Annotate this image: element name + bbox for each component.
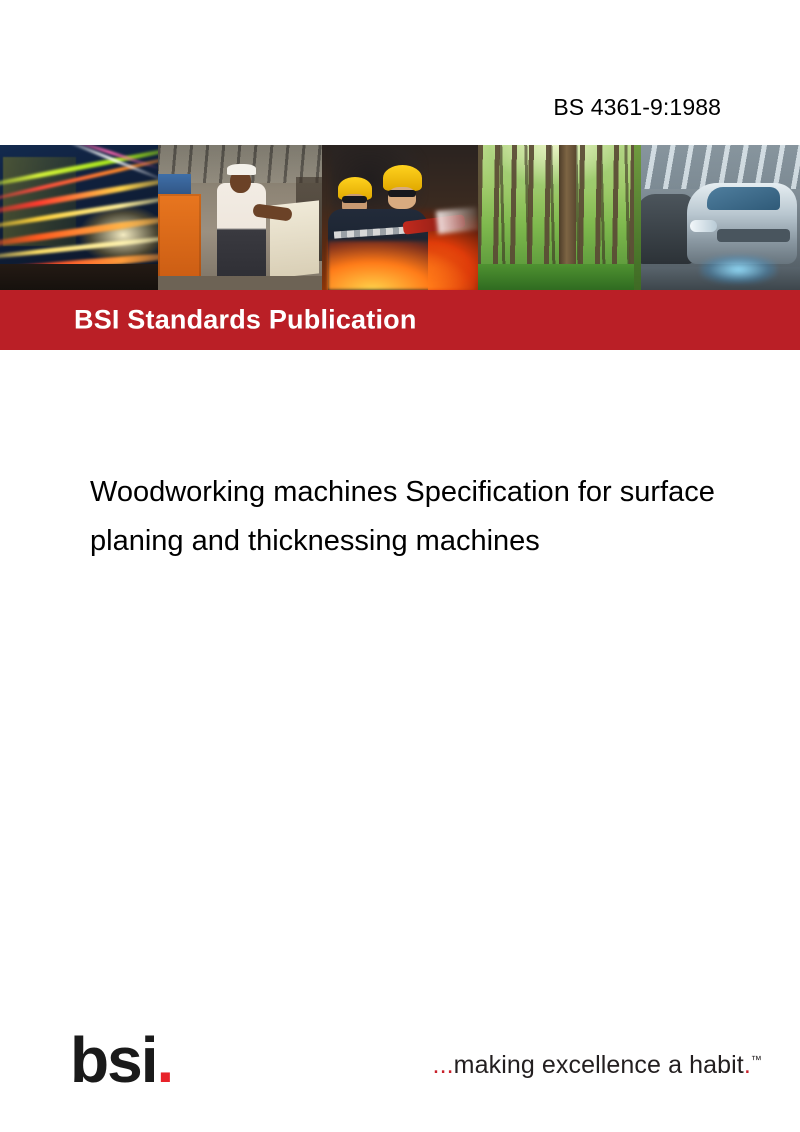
light-trails-road [0,264,158,290]
bsi-logo-dot: . [156,1024,172,1096]
factory-left-edge [634,145,641,290]
inspection-light-glow [700,255,776,284]
publisher-banner-text: BSI Standards Publication [74,305,417,336]
tagline-dot: . [744,1051,751,1079]
water-spray [436,207,478,234]
warehouse-worker-photo [158,145,322,290]
light-trails-photo [0,145,158,290]
car-grille [717,229,790,242]
firefighters-photo [322,145,478,290]
firefighter-visor [388,190,416,197]
worker-body [217,183,266,290]
page-title: Woodworking machines Specification for s… [90,468,800,566]
car-assembly-photo [634,145,800,290]
forest-undergrowth [478,264,634,290]
document-cover-page: BS 4361-9:1988 [0,0,800,1132]
flames [328,241,475,290]
forest-photo [478,145,634,290]
banner-image-strip [0,145,800,290]
bsi-logo-text: bsi [70,1024,156,1096]
car-windshield [707,187,780,210]
publisher-banner: BSI Standards Publication [0,290,800,350]
standard-number: BS 4361-9:1988 [553,94,721,121]
tagline-ellipsis: ... [433,1051,454,1079]
factory-ceiling-lights [634,145,800,189]
tagline-text: making excellence a habit [454,1051,744,1079]
bsi-tagline: ...making excellence a habit.™ [433,1051,762,1080]
bsi-logo: bsi. [70,1028,172,1092]
trademark-symbol: ™ [751,1055,762,1067]
page-title-line-1: Woodworking machines Specification for s… [90,468,800,517]
car-background [637,194,693,264]
car-headlamp [690,220,717,232]
warehouse-floor [158,276,322,291]
worker-cap [227,164,257,176]
page-title-line-2: planing and thicknessing machines [90,517,800,566]
firefighter-visor [342,196,367,203]
